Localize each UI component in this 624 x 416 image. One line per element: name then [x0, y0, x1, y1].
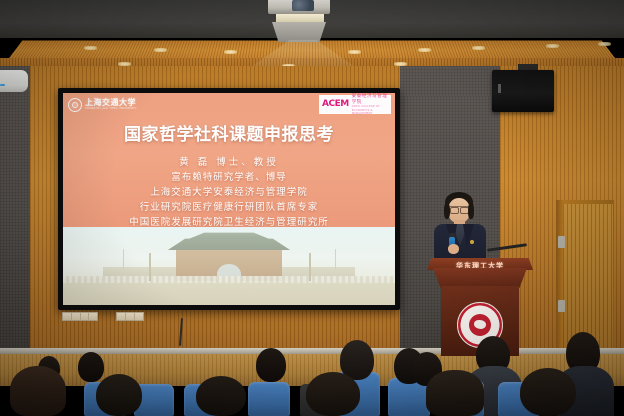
presenter-glasses-icon [450, 206, 469, 211]
acem-logo-name-cn: 安泰经济与管理学院 [352, 94, 388, 105]
outlet-socket [126, 313, 135, 320]
door-leaf[interactable] [563, 204, 613, 352]
wall-outlet-panel-left[interactable] [62, 312, 98, 321]
slide-line-4: 行业研究院医疗健康行研团队首席专家 [63, 200, 395, 215]
projector-hood [272, 22, 326, 42]
downlight-icon [154, 48, 167, 52]
temple-pillar [149, 253, 151, 281]
temple-flagpole [335, 249, 336, 269]
downlight-icon [84, 46, 97, 50]
audience-chair[interactable] [248, 382, 290, 416]
presenter-hand [448, 244, 459, 254]
door-hinge-icon [558, 236, 565, 248]
slide-upper-panel: 上海交通大学 SHANGHAI JIAO TONG UNIVERSITY ACE… [63, 93, 395, 227]
screen-display-area: 上海交通大学 SHANGHAI JIAO TONG UNIVERSITY ACE… [63, 93, 395, 305]
audience-head-foreground [520, 368, 576, 416]
acem-logo-name-en: ANTAI COLLEGE OF ECONOMICS & MANAGEMENT [352, 105, 388, 115]
slide-line-1: 黄 磊 博士、教授 [63, 155, 395, 170]
acem-logo-mark: ACEM [322, 100, 349, 109]
sjtu-logo-subtitle: SHANGHAI JIAO TONG UNIVERSITY [85, 107, 137, 111]
downlight-icon [472, 46, 485, 50]
outlet-socket [72, 313, 81, 320]
downlight-icon [224, 50, 237, 54]
acem-logo: ACEM 安泰经济与管理学院 ANTAI COLLEGE OF ECONOMIC… [319, 95, 391, 114]
outlet-socket [117, 313, 126, 320]
downlight-icon [598, 42, 611, 46]
air-conditioner-unit [0, 70, 28, 92]
lecture-hall-scene: 上海交通大学 SHANGHAI JIAO TONG UNIVERSITY ACE… [0, 0, 624, 416]
temple-pillar [309, 253, 311, 281]
temple-illustration [63, 227, 395, 305]
downlight-icon [546, 44, 559, 48]
slide-photo-band [63, 227, 395, 305]
audience-head-foreground [426, 370, 484, 416]
wall-speaker-box [492, 70, 554, 112]
audience-head-foreground [10, 366, 66, 416]
projector-lens [276, 14, 324, 23]
downlight-icon [418, 48, 431, 52]
sjtu-logo-name: 上海交通大学 [85, 99, 137, 107]
wall-outlet-panel-right[interactable] [116, 312, 144, 321]
wall-acoustic-left [0, 66, 34, 352]
door-hinge-icon [558, 300, 565, 312]
temple-roof-upper [173, 232, 286, 239]
temple-balustrade [63, 276, 395, 283]
presenter-badge-pin [470, 240, 474, 244]
temple-flagpole [123, 249, 124, 269]
speaker-badge [498, 84, 501, 93]
audience-head [78, 352, 104, 382]
audience-head-foreground [96, 374, 142, 416]
downlight-icon [348, 50, 361, 54]
podium-front-slant [433, 268, 527, 288]
slide-line-3: 上海交通大学安泰经济与管理学院 [63, 185, 395, 200]
outlet-socket [63, 313, 72, 320]
ac-led-indicator [0, 84, 5, 86]
audience-head [256, 348, 286, 382]
slide-body-lines: 黄 磊 博士、教授 富布赖特研究学者、博导 上海交通大学安泰经济与管理学院 行业… [63, 155, 395, 230]
outlet-socket [81, 313, 90, 320]
outlet-socket [135, 313, 143, 320]
emblem-inner [469, 314, 491, 336]
slide-line-2: 富布赖特研究学者、博导 [63, 170, 395, 185]
audience-head-foreground [196, 376, 246, 416]
outlet-socket [89, 313, 97, 320]
sjtu-seal-icon [68, 98, 82, 112]
projection-screen: 上海交通大学 SHANGHAI JIAO TONG UNIVERSITY ACE… [58, 88, 400, 310]
slide-title: 国家哲学社科课题申报思考 [63, 120, 395, 145]
projector-detail [292, 0, 314, 11]
sjtu-logo: 上海交通大学 SHANGHAI JIAO TONG UNIVERSITY [68, 96, 146, 114]
audience-head-foreground [306, 372, 360, 416]
